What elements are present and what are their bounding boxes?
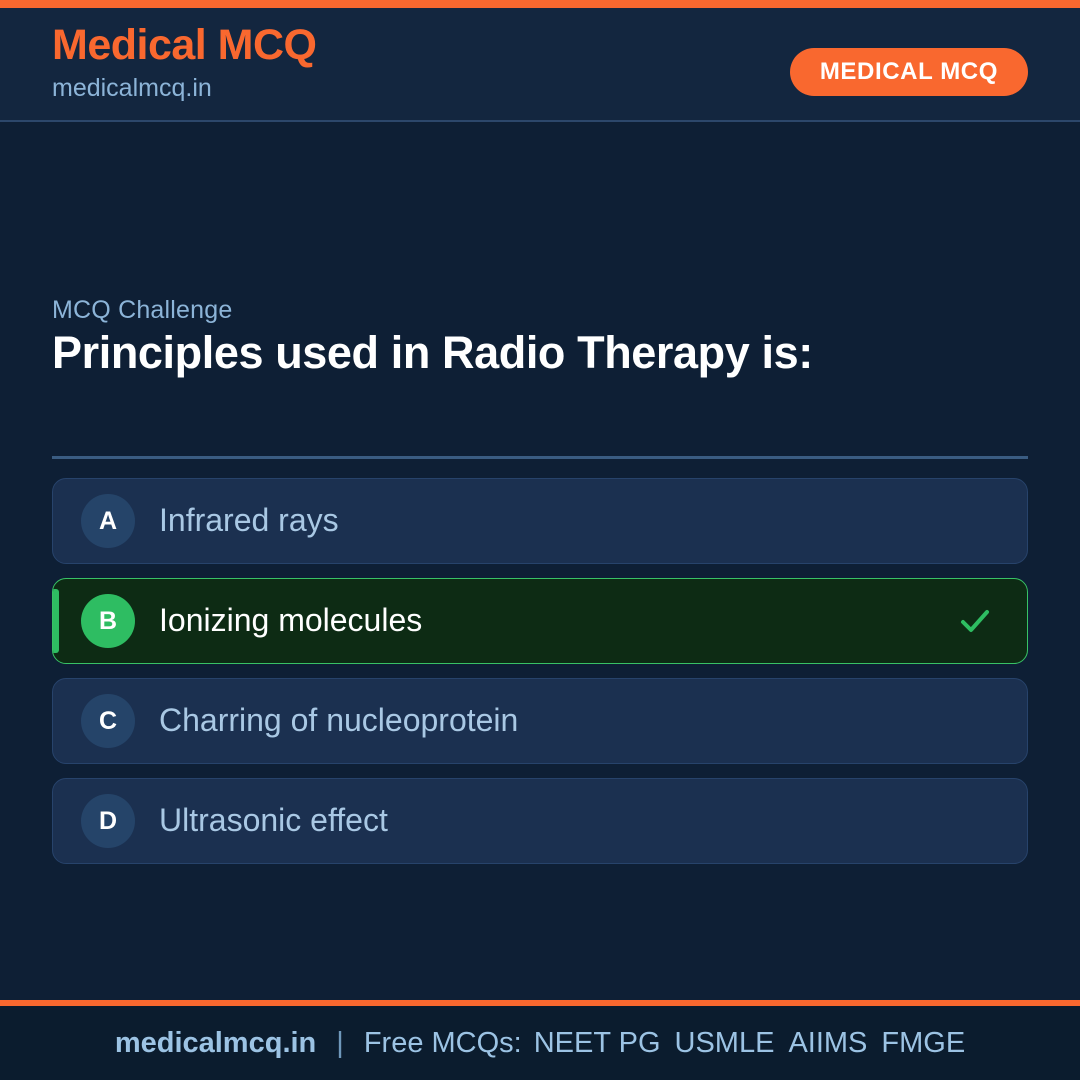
option-b-letter: B	[81, 594, 135, 648]
header-badge: MEDICAL MCQ	[790, 48, 1028, 96]
option-a[interactable]: A Infrared rays	[52, 478, 1028, 564]
option-d-text: Ultrasonic effect	[159, 803, 388, 838]
main-content: MCQ Challenge Principles used in Radio T…	[0, 124, 1080, 1000]
option-c-text: Charring of nucleoprotein	[159, 703, 518, 738]
option-c[interactable]: C Charring of nucleoprotein	[52, 678, 1028, 764]
option-c-letter: C	[81, 694, 135, 748]
option-d-letter: D	[81, 794, 135, 848]
footer-text: medicalmcq.in | Free MCQs: NEET PG USMLE…	[115, 1027, 965, 1060]
brand-title: Medical MCQ	[52, 20, 317, 71]
option-d[interactable]: D Ultrasonic effect	[52, 778, 1028, 864]
brand-website: medicalmcq.in	[52, 73, 317, 103]
footer-separator: |	[336, 1027, 344, 1060]
footer-site: medicalmcq.in	[115, 1027, 316, 1060]
footer-label: Free MCQs:	[364, 1027, 522, 1060]
footer-exam-usmle: USMLE	[675, 1027, 775, 1060]
option-b[interactable]: B Ionizing molecules	[52, 578, 1028, 664]
option-b-text: Ionizing molecules	[159, 603, 422, 638]
brand-block: Medical MCQ medicalmcq.in	[52, 20, 317, 103]
footer-exam-aiims: AIIMS	[788, 1027, 867, 1060]
footer-exam-neet-pg: NEET PG	[534, 1027, 661, 1060]
question-divider	[52, 456, 1028, 459]
eyebrow-label: MCQ Challenge	[52, 296, 232, 325]
page-header: Medical MCQ medicalmcq.in MEDICAL MCQ	[0, 8, 1080, 122]
page-footer: medicalmcq.in | Free MCQs: NEET PG USMLE…	[0, 1000, 1080, 1080]
top-accent-bar	[0, 0, 1080, 8]
option-a-letter: A	[81, 494, 135, 548]
check-icon	[955, 601, 995, 641]
question-text: Principles used in Radio Therapy is:	[52, 326, 1012, 380]
option-a-text: Infrared rays	[159, 503, 339, 538]
footer-exam-fmge: FMGE	[881, 1027, 965, 1060]
options-list: A Infrared rays B Ionizing molecules C C…	[52, 478, 1028, 878]
